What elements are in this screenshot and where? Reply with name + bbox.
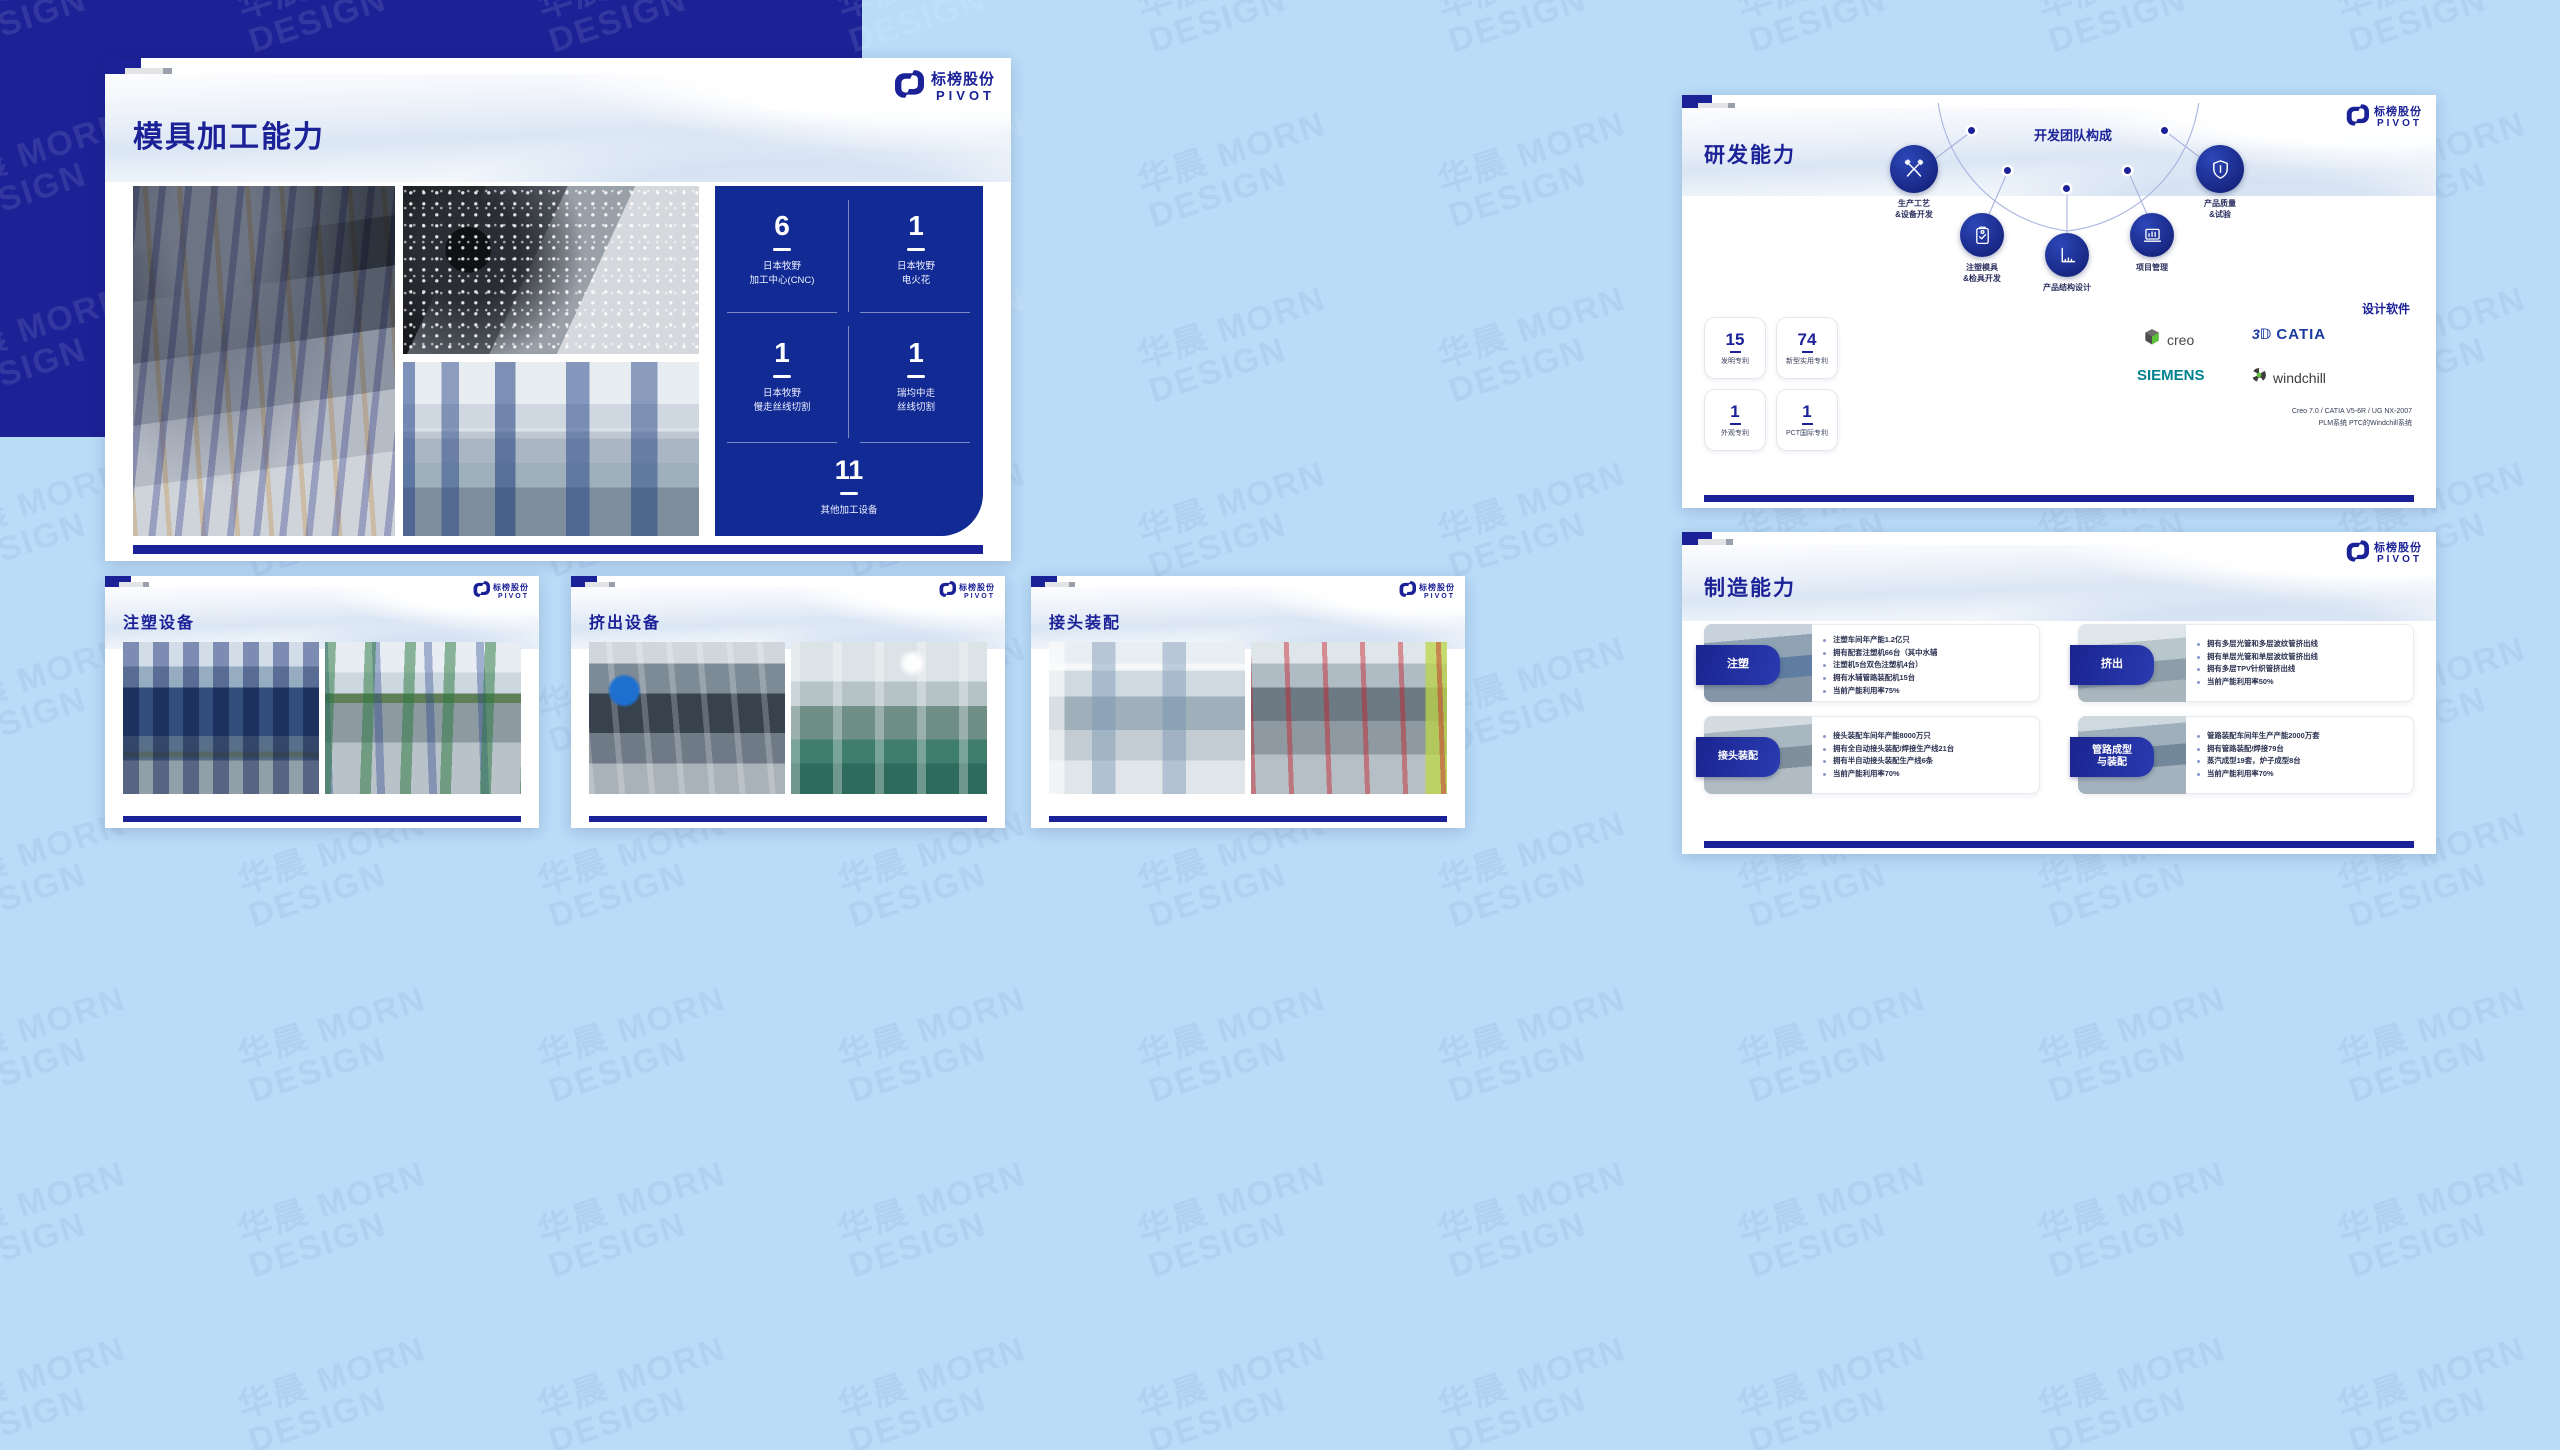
footer-bar <box>1704 841 2414 848</box>
mfg-bullet: 蒸汽成型19套，炉子成型8台 <box>2197 755 2405 768</box>
pivot-mark-icon <box>894 70 924 103</box>
creo-cube-icon <box>2142 327 2162 352</box>
watermark-text: 华晨 MORNDESIGN <box>2334 982 2542 1110</box>
watermark-text: 华晨 MORNDESIGN <box>834 0 1042 60</box>
stat-label-1: 瑞均中走 <box>897 387 935 401</box>
divider-h-right-2 <box>860 442 970 443</box>
watermark-text: 华晨 MORNDESIGN <box>2034 1332 2242 1450</box>
watermark-text: 华晨 MORNDESIGN <box>2034 1157 2242 1285</box>
stat-card: 1 瑞均中走 丝线切割 <box>849 313 983 440</box>
stat-rule <box>907 248 925 251</box>
watermark-text: 华晨 MORNDESIGN <box>234 1332 442 1450</box>
footer-bar <box>133 545 983 554</box>
watermark-text: 华晨 MORNDESIGN <box>1134 457 1342 585</box>
stat-label-2: 电火花 <box>902 274 931 288</box>
divider-v-bottom <box>848 326 849 438</box>
brand-name-cn: 标榜股份 <box>2374 543 2422 554</box>
mfg-bullet: 拥有多层TPV针织管挤出线 <box>2197 663 2405 676</box>
stat-rule <box>773 375 791 378</box>
node-label-line2: &设备开发 <box>1895 210 1933 219</box>
pivot-mark-icon <box>1399 581 1416 602</box>
catia-wordmark: CATIA <box>2276 326 2326 343</box>
watermark-text: 华晨 MORNDESIGN <box>2034 0 2242 60</box>
brand-name-en: PIVOT <box>1419 593 1455 600</box>
footer-bar <box>1704 495 2414 502</box>
stat-card-total: 11 其他加工设备 <box>715 448 983 526</box>
arc-node-dot <box>1968 127 1975 134</box>
watermark-text: 华晨 MORNDESIGN <box>1134 107 1342 235</box>
watermark-text: 华晨 MORNDESIGN <box>1734 1332 1942 1450</box>
brand-name-en: PIVOT <box>931 89 995 102</box>
mfg-card-tag: 挤出 <box>2070 645 2154 685</box>
watermark-text: 华晨 MORNDESIGN <box>0 1332 142 1450</box>
watermark-text: 华晨 MORNDESIGN <box>534 1332 742 1450</box>
siemens-wordmark: SIEMENS <box>2137 367 2205 384</box>
patent-card-pct: 1 PCT国际专利 <box>1776 389 1838 451</box>
mfg-bullet-list: 接头装配车间年产能8000万只 拥有全自动接头装配/焊接生产线21台 拥有半自动… <box>1823 730 2031 781</box>
arc-node-dot <box>2124 167 2131 174</box>
node-label-line1: 产品质量 <box>2204 199 2236 208</box>
brand-logo: 标榜股份 PIVOT <box>2346 104 2422 131</box>
node-label-line1: 产品结构设计 <box>2043 283 2091 292</box>
watermark-text: 华晨 MORNDESIGN <box>1434 1332 1642 1450</box>
mfg-card-injection[interactable]: 注塑 注塑车间年产能1.2亿只 拥有配套注塑机66台（其中水辅 注塑机5台双色注… <box>1704 624 2040 702</box>
software-logo-siemens: SIEMENS <box>2137 367 2205 384</box>
node-project-management[interactable] <box>2130 213 2174 257</box>
watermark-text: 华晨 MORNDESIGN <box>1434 982 1642 1110</box>
chart-laptop-icon <box>2142 225 2163 246</box>
brand-name-cn: 标榜股份 <box>2374 107 2422 118</box>
brand-name-en: PIVOT <box>493 593 529 600</box>
stat-number: 1 <box>908 212 924 240</box>
tools-icon <box>1902 157 1926 181</box>
stat-rule <box>907 375 925 378</box>
stat-card: 1 日本牧野 电火花 <box>849 186 983 313</box>
photo-grinding-spark <box>403 186 699 354</box>
node-label-product-quality: 产品质量 &试验 <box>2172 199 2268 221</box>
slide-extrusion-equipment[interactable]: 标榜股份 PIVOT 挤出设备 <box>571 576 1005 828</box>
watermark-text: 华晨 MORNDESIGN <box>1434 282 1642 410</box>
patent-rule <box>1730 351 1741 353</box>
stat-label: 其他加工设备 <box>820 504 877 518</box>
node-label-project-management: 项目管理 <box>2110 263 2194 274</box>
patent-rule <box>1802 423 1813 425</box>
node-label-production-process: 生产工艺 &设备开发 <box>1864 199 1964 221</box>
software-logo-windchill: windchill <box>2250 366 2326 389</box>
arc-node-dot <box>2063 185 2070 192</box>
node-label-line1: 项目管理 <box>2136 263 2168 272</box>
patent-count: 1 <box>1730 403 1739 420</box>
stat-number: 1 <box>774 339 790 367</box>
stat-rule <box>773 248 791 251</box>
mfg-bullet: 拥有管路装配/焊接79台 <box>2197 743 2405 756</box>
mfg-bullet-list: 拥有多层光管和多层波纹管挤出线 拥有单层光管和单层波纹管挤出线 拥有多层TPV针… <box>2197 638 2405 689</box>
creo-wordmark: creo <box>2167 332 2194 348</box>
mfg-bullet: 拥有全自动接头装配/焊接生产线21台 <box>1823 743 2031 756</box>
watermark-text: 华晨 MORNDESIGN <box>1134 0 1342 60</box>
stat-label-2: 丝线切割 <box>897 401 935 415</box>
patent-label: PCT国际专利 <box>1786 428 1828 438</box>
patent-card-invention: 15 发明专利 <box>1704 317 1766 379</box>
slide-mold-machining[interactable]: 标榜股份 PIVOT 模具加工能力 6 日本牧野 加工中心(CNC) 1 日本牧… <box>105 58 1011 561</box>
pivot-mark-icon <box>2346 540 2369 567</box>
divider-h-right <box>860 312 970 313</box>
pivot-mark-icon <box>939 581 956 602</box>
brand-name-en: PIVOT <box>2374 555 2422 565</box>
watermark-text: 华晨 MORNDESIGN <box>1434 457 1642 585</box>
patent-rule <box>1802 351 1813 353</box>
software-section-title: 设计软件 <box>2362 300 2410 317</box>
brand-logo: 标榜股份 PIVOT <box>939 581 995 602</box>
mfg-bullet: 当前产能利用率75% <box>1823 685 2031 698</box>
stats-grid: 6 日本牧野 加工中心(CNC) 1 日本牧野 电火花 1 日本牧野 慢走丝线切… <box>715 186 983 440</box>
page-title: 挤出设备 <box>589 609 661 633</box>
node-label-mold-inspection-dev: 注塑模具 &检具开发 <box>1934 263 2030 285</box>
photo-injection-line-b <box>325 642 521 794</box>
photo-injection-line-a <box>123 642 319 794</box>
watermark-text: 华晨 MORNDESIGN <box>1734 1157 1942 1285</box>
node-label-line2: &检具开发 <box>1963 274 2001 283</box>
brand-name-en: PIVOT <box>959 593 995 600</box>
mfg-bullet-list: 注塑车间年产能1.2亿只 拥有配套注塑机66台（其中水辅 注塑机5台双色注塑机4… <box>1823 634 2031 698</box>
page-title: 接头装配 <box>1049 609 1121 633</box>
stat-number: 1 <box>908 339 924 367</box>
mfg-card-pipe-forming[interactable]: 管路成型 与装配 管路装配车间年生产产能2000万套 拥有管路装配/焊接79台 … <box>2078 716 2414 794</box>
watermark-text: 华晨 MORNDESIGN <box>1734 0 1942 60</box>
watermark-text: 华晨 MORNDESIGN <box>1134 282 1342 410</box>
mfg-bullet: 拥有半自动接头装配生产线6条 <box>1823 755 2031 768</box>
mfg-bullet: 拥有单层光管和单层波纹管挤出线 <box>2197 651 2405 664</box>
divider-v-top <box>848 200 849 312</box>
mfg-bullet: 拥有多层光管和多层波纹管挤出线 <box>2197 638 2405 651</box>
brand-logo: 标榜股份 PIVOT <box>1399 581 1455 602</box>
patent-label: 发明专利 <box>1721 356 1749 366</box>
watermark-text: 华晨 MORNDESIGN <box>1134 982 1342 1110</box>
page-title: 制造能力 <box>1704 572 1796 602</box>
mfg-card-tag: 管路成型 与装配 <box>2070 737 2154 777</box>
watermark-text: 华晨 MORNDESIGN <box>2334 1157 2542 1285</box>
photo-extruder-b <box>791 642 987 794</box>
brand-logo: 标榜股份 PIVOT <box>894 70 995 103</box>
pivot-mark-icon <box>2346 104 2369 131</box>
watermark-text: 华晨 MORNDESIGN <box>234 982 442 1110</box>
slide-manufacturing-capability[interactable]: 标榜股份 PIVOT 制造能力 注塑 注塑车间年产能1.2亿只 拥有配套注塑机6… <box>1682 532 2436 854</box>
node-label-product-structure-design: 产品结构设计 <box>2015 283 2119 294</box>
brand-name-cn: 标榜股份 <box>959 584 995 592</box>
slide-connector-assembly[interactable]: 标榜股份 PIVOT 接头装配 <box>1031 576 1465 828</box>
windchill-icon <box>2250 366 2268 389</box>
mfg-bullet-list: 管路装配车间年生产产能2000万套 拥有管路装配/焊接79台 蒸汽成型19套，炉… <box>2197 730 2405 781</box>
watermark-text: 华晨 MORNDESIGN <box>0 982 142 1110</box>
brand-name-cn: 标榜股份 <box>493 584 529 592</box>
stat-card: 1 日本牧野 慢走丝线切割 <box>715 313 849 440</box>
team-composition-diagram: 开发团队构成 生产工艺 &设备开发 <box>1852 103 2282 293</box>
slide-injection-equipment[interactable]: 标榜股份 PIVOT 注塑设备 <box>105 576 539 828</box>
stats-panel: 6 日本牧野 加工中心(CNC) 1 日本牧野 电火花 1 日本牧野 慢走丝线切… <box>715 186 983 536</box>
photo-assembly-a <box>1049 642 1245 794</box>
brand-name-en: PIVOT <box>2374 119 2422 129</box>
stat-label-1: 日本牧野 <box>763 260 801 274</box>
patent-count: 74 <box>1798 331 1817 348</box>
mfg-bullet: 注塑车间年产能1.2亿只 <box>1823 634 2031 647</box>
divider-h-left-2 <box>727 442 837 443</box>
patent-card-utility: 74 新型实用专利 <box>1776 317 1838 379</box>
slide-rd-capability[interactable]: 标榜股份 PIVOT 研发能力 开发团队构成 <box>1682 95 2436 508</box>
stat-card: 6 日本牧野 加工中心(CNC) <box>715 186 849 313</box>
mfg-bullet: 拥有配套注塑机66台（其中水辅 <box>1823 647 2031 660</box>
divider-h-left <box>727 312 837 313</box>
arc-title: 开发团队构成 <box>1998 125 2148 144</box>
mfg-bullet: 接头装配车间年产能8000万只 <box>1823 730 2031 743</box>
brand-logo: 标榜股份 PIVOT <box>2346 540 2422 567</box>
watermark-text: 华晨 MORNDESIGN <box>534 1157 742 1285</box>
patent-label: 新型实用专利 <box>1786 356 1828 366</box>
mfg-bullet-cont: 注塑机5台双色注塑机4台） <box>1823 659 2031 672</box>
footer-bar <box>589 816 987 822</box>
clipboard-check-icon <box>1972 225 1993 246</box>
footer-bar <box>1049 816 1447 822</box>
stat-label-1: 日本牧野 <box>897 260 935 274</box>
mfg-card-connector-assembly[interactable]: 接头装配 接头装配车间年产能8000万只 拥有全自动接头装配/焊接生产线21台 … <box>1704 716 2040 794</box>
page-title: 注塑设备 <box>123 609 195 633</box>
stat-label-2: 加工中心(CNC) <box>750 274 815 288</box>
watermark-text: 华晨 MORNDESIGN <box>1434 1157 1642 1285</box>
mfg-card-extrusion[interactable]: 挤出 拥有多层光管和多层波纹管挤出线 拥有单层光管和单层波纹管挤出线 拥有多层T… <box>2078 624 2414 702</box>
photo-cnc-coolant-nozzles <box>133 186 395 536</box>
brand-name-cn: 标榜股份 <box>931 72 995 87</box>
photo-assembly-b <box>1251 642 1447 794</box>
software-logo-catia: 3𝔻 CATIA <box>2252 326 2326 343</box>
mfg-bullet: 管路装配车间年生产产能2000万套 <box>2197 730 2405 743</box>
stat-label-1: 日本牧野 <box>763 387 801 401</box>
pivot-mark-icon <box>473 581 490 602</box>
watermark-text: 华晨 MORNDESIGN <box>2334 1332 2542 1450</box>
watermark-text: 华晨 MORNDESIGN <box>1134 1332 1342 1450</box>
stat-number: 6 <box>774 212 790 240</box>
watermark-text: 华晨 MORNDESIGN <box>834 1332 1042 1450</box>
windchill-wordmark: windchill <box>2273 370 2326 386</box>
node-label-line1: 生产工艺 <box>1898 199 1930 208</box>
node-label-line2: &试验 <box>2209 210 2231 219</box>
brand-logo: 标榜股份 PIVOT <box>473 581 529 602</box>
watermark-text: 华晨 MORNDESIGN <box>534 982 742 1110</box>
mfg-bullet: 当前产能利用率70% <box>2197 768 2405 781</box>
node-label-line1: 注塑模具 <box>1966 263 1998 272</box>
watermark-text: 华晨 MORNDESIGN <box>1134 1157 1342 1285</box>
watermark-text: 华晨 MORNDESIGN <box>2034 982 2242 1110</box>
watermark-text: 华晨 MORNDESIGN <box>1434 107 1642 235</box>
node-production-process[interactable] <box>1890 145 1938 193</box>
photo-machine-shop-floor <box>403 362 699 536</box>
patent-count: 1 <box>1802 403 1811 420</box>
mfg-bullet: 当前产能利用率70% <box>1823 768 2031 781</box>
shield-icon <box>2209 158 2232 181</box>
patent-count: 15 <box>1726 331 1745 348</box>
node-product-quality[interactable] <box>2196 145 2244 193</box>
arc-node-dot <box>2004 167 2011 174</box>
brand-name-cn: 标榜股份 <box>1419 584 1455 592</box>
page-title: 模具加工能力 <box>133 112 325 156</box>
software-note-line2: PLM系统 PTC的Windchill系统 <box>2152 419 2412 430</box>
stat-rule <box>840 492 858 495</box>
watermark-text: 华晨 MORNDESIGN <box>2334 0 2542 60</box>
patent-rule <box>1730 423 1741 425</box>
patent-card-design: 1 外观专利 <box>1704 389 1766 451</box>
mfg-card-tag: 注塑 <box>1696 645 1780 685</box>
stat-number: 11 <box>835 457 864 484</box>
ruler-icon <box>2057 245 2078 266</box>
page-title: 研发能力 <box>1704 139 1796 169</box>
watermark-text: 华晨 MORNDESIGN <box>834 982 1042 1110</box>
mfg-bullet: 当前产能利用率50% <box>2197 676 2405 689</box>
watermark-text: 华晨 MORNDESIGN <box>1734 982 1942 1110</box>
watermark-text: 华晨 MORNDESIGN <box>834 1157 1042 1285</box>
photo-extruder-a <box>589 642 785 794</box>
stat-label-2: 慢走丝线切割 <box>753 401 810 415</box>
patent-label: 外观专利 <box>1721 428 1749 438</box>
watermark-text: 华晨 MORNDESIGN <box>1434 0 1642 60</box>
arc-node-dot <box>2161 127 2168 134</box>
node-product-structure-design[interactable] <box>2045 233 2089 277</box>
software-logo-creo: creo <box>2142 327 2194 352</box>
ds-mark-icon: 3𝔻 <box>2252 326 2271 343</box>
software-note-line1: Creo 7.0 / CATIA V5-6R / UG NX-2007 <box>2152 407 2412 418</box>
mfg-card-tag: 接头装配 <box>1696 737 1780 777</box>
mfg-bullet: 拥有水辅管路装配机15台 <box>1823 672 2031 685</box>
watermark-text: 华晨 MORNDESIGN <box>0 1157 142 1285</box>
footer-bar <box>123 816 521 822</box>
node-mold-inspection-dev[interactable] <box>1960 213 2004 257</box>
watermark-text: 华晨 MORNDESIGN <box>234 1157 442 1285</box>
